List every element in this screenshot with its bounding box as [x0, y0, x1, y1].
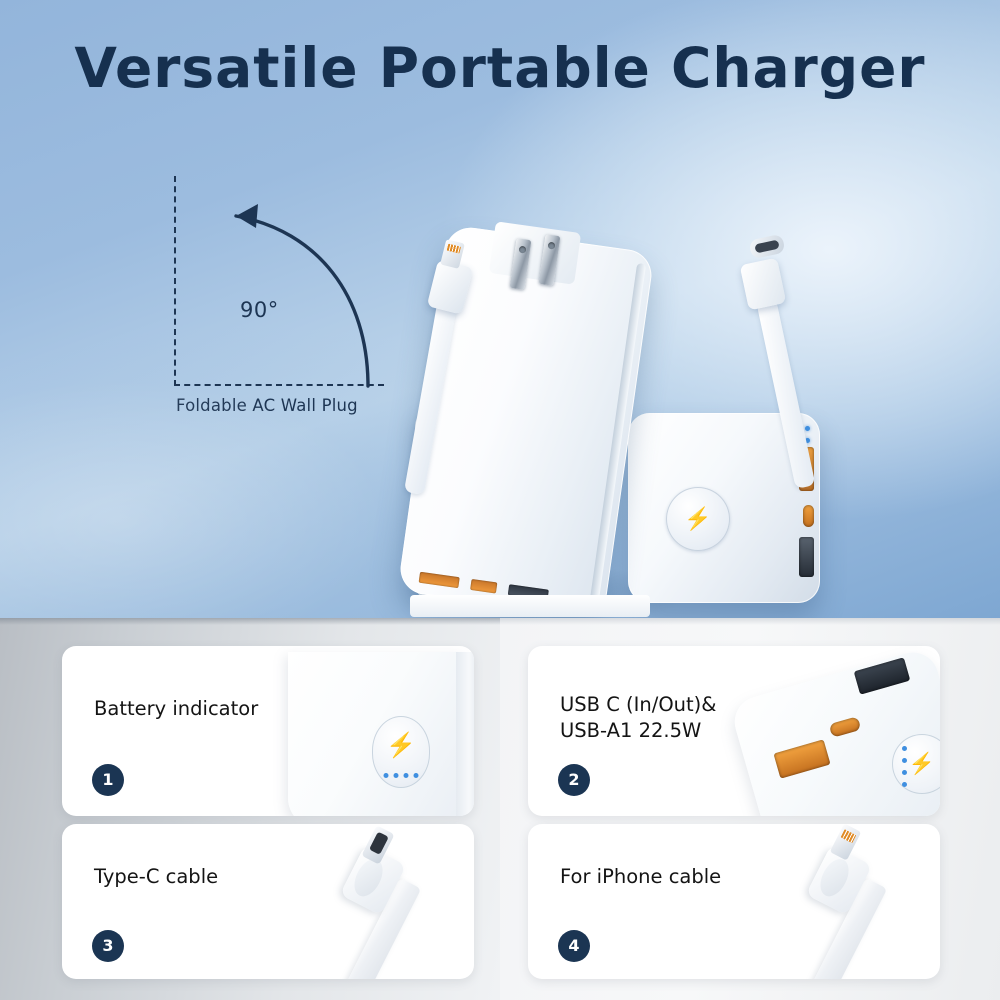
- lightning-connector-icon: [830, 824, 861, 861]
- page-title: Versatile Portable Charger: [0, 36, 1000, 100]
- usb-a-port-amber: [773, 739, 830, 778]
- led-dots: [902, 746, 907, 787]
- feature-badge: 2: [558, 764, 590, 796]
- lightning-bolt-icon: ⚡: [684, 508, 711, 530]
- feature-badge: 4: [558, 930, 590, 962]
- product-infographic: Versatile Portable Charger 90° Foldable …: [0, 0, 1000, 1000]
- feature-label: For iPhone cable: [560, 864, 721, 890]
- feature-card-usb-ports[interactable]: ⚡ USB C (In/Out)& USB-A1 22.5W 2: [528, 646, 940, 816]
- usb-a-port-dark: [799, 537, 814, 577]
- feature-card-battery-indicator[interactable]: ⚡ Battery indicator 1: [62, 646, 474, 816]
- power-button-icon: ⚡: [372, 716, 430, 788]
- product-hero-image: ⚡: [400, 215, 820, 618]
- hero-section: Versatile Portable Charger 90° Foldable …: [0, 0, 1000, 618]
- feature-badge: 3: [92, 930, 124, 962]
- annotation-caption: Foldable AC Wall Plug: [176, 396, 416, 415]
- feature-label: Type-C cable: [94, 864, 218, 890]
- fold-angle-annotation: 90°: [168, 176, 398, 416]
- type-c-connector-tip: [748, 234, 785, 260]
- product-base-plate: [410, 595, 650, 617]
- lightning-bolt-icon: ⚡: [386, 734, 416, 758]
- usb-ports-art: ⚡: [730, 650, 940, 816]
- lightning-bolt-icon: ⚡: [909, 754, 935, 775]
- usb-c-port: [829, 716, 862, 738]
- power-button: ⚡: [666, 487, 730, 551]
- feature-card-iphone-cable[interactable]: For iPhone cable 4: [528, 824, 940, 979]
- rotation-arrow-icon: [168, 176, 398, 416]
- lightning-cable-art: [730, 824, 940, 979]
- angle-label: 90°: [240, 298, 279, 322]
- features-section: ⚡ Battery indicator 1 ⚡ USB C (In/Out)& …: [0, 618, 1000, 1000]
- power-button-icon: ⚡: [892, 734, 940, 794]
- feature-label: Battery indicator: [94, 696, 258, 722]
- type-c-cable-collar: [740, 258, 787, 311]
- bottom-usb-a-amber: [419, 572, 460, 588]
- bottom-usb-c: [470, 579, 497, 594]
- feature-badge: 1: [92, 764, 124, 796]
- led-dots: [384, 773, 419, 778]
- battery-indicator-art: ⚡: [288, 652, 474, 816]
- type-c-connector-icon: [361, 825, 394, 864]
- usb-c-port: [803, 505, 814, 527]
- usb-a-port-dark: [854, 657, 911, 694]
- type-c-cable-art: [264, 824, 474, 979]
- feature-label: USB C (In/Out)& USB-A1 22.5W: [560, 692, 717, 743]
- feature-card-type-c-cable[interactable]: Type-C cable 3: [62, 824, 474, 979]
